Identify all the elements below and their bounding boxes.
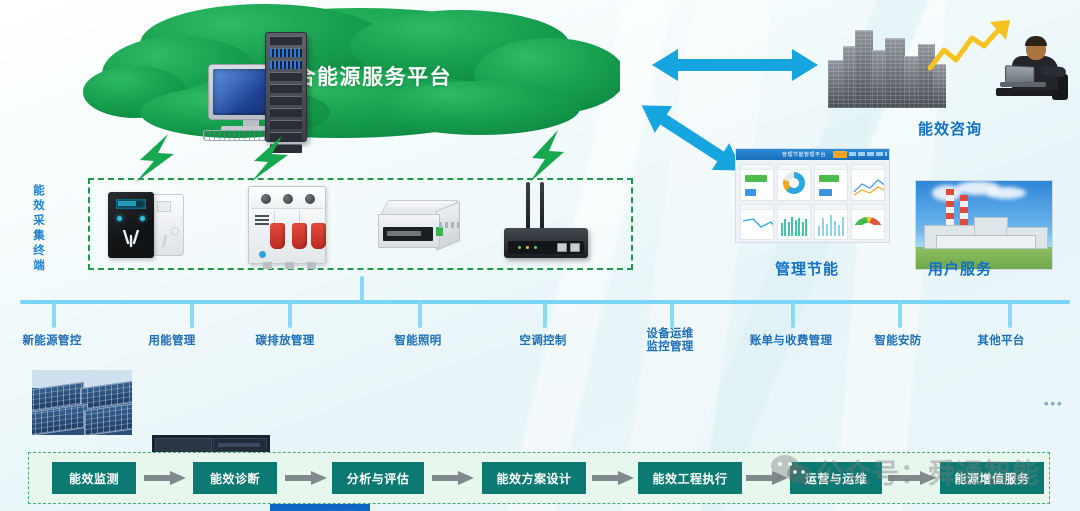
category-label-om-line1: 设备运维	[620, 328, 720, 341]
ellipsis-more-platforms: •••	[1044, 396, 1064, 411]
energy-management-dashboard-screenshot: 管理节能管理平台	[735, 148, 890, 243]
progress-bar-panel	[814, 164, 848, 201]
category-label-security[interactable]: 智能安防	[850, 335, 946, 348]
bus-tick	[543, 302, 547, 328]
bus-tick	[670, 302, 674, 328]
category-label-other[interactable]: 其他平台	[953, 335, 1049, 348]
iot-gateway-router-device	[500, 182, 592, 264]
category-label-new-energy[interactable]: 新能源管控	[2, 335, 102, 348]
circuit-breaker-device	[248, 186, 326, 264]
line-chart-panel	[740, 204, 774, 241]
bus-tick	[190, 302, 194, 328]
dashboard-titlebar: 管理节能管理平台	[736, 149, 889, 160]
category-label-carbon[interactable]: 碳排放管理	[230, 335, 340, 348]
flow-arrow	[592, 471, 634, 485]
bus-tick	[418, 302, 422, 328]
bidirectional-arrow-top	[652, 48, 818, 87]
power-plant-photo	[915, 180, 1053, 270]
flow-step-analysis[interactable]: 分析与评估	[332, 462, 424, 494]
bus-tick	[791, 302, 795, 328]
service-label-consulting: 能效咨询	[918, 118, 982, 139]
bus-tick	[898, 302, 902, 328]
bus-tick-up	[360, 276, 364, 302]
dashboard-title: 管理节能管理平台	[782, 151, 826, 158]
progress-bars-panel	[740, 164, 774, 201]
flow-step-design[interactable]: 能效方案设计	[482, 462, 586, 494]
bus-tick	[52, 302, 56, 328]
server-rack-icon	[265, 32, 307, 142]
flow-arrow	[432, 471, 474, 485]
category-label-hvac[interactable]: 空调控制	[495, 335, 591, 348]
category-label-om[interactable]: 设备运维 监控管理	[620, 328, 720, 354]
acquisition-terminal-label: 能效采集终端	[30, 184, 48, 274]
category-label-billing[interactable]: 账单与收费管理	[724, 335, 858, 348]
lightning-bolt-icon	[134, 134, 180, 182]
city-skyline-consultant-photo	[828, 20, 1068, 108]
consultant-at-laptop-graphic	[996, 36, 1068, 108]
flow-arrow	[888, 471, 936, 485]
category-label-om-line2: 监控管理	[620, 341, 720, 354]
flow-step-value-added[interactable]: 能源增值服务	[940, 462, 1044, 494]
flow-step-monitoring[interactable]: 能效监测	[52, 462, 136, 494]
flow-arrow	[144, 471, 186, 485]
dashboard-panel-grid	[736, 160, 889, 243]
lightning-bolt-icon	[248, 136, 294, 182]
flow-step-execution[interactable]: 能效工程执行	[638, 462, 742, 494]
category-label-lighting[interactable]: 智能照明	[370, 335, 466, 348]
flow-step-diagnosis[interactable]: 能效诊断	[193, 462, 277, 494]
service-label-user-service: 用户服务	[928, 258, 992, 279]
smart-socket-panel-device	[108, 192, 186, 258]
area-chart-panel	[814, 204, 848, 241]
line-chart-panel	[851, 164, 885, 201]
din-rail-energy-meter-device	[378, 200, 460, 252]
bus-tick	[1008, 302, 1012, 328]
flow-step-operations[interactable]: 运营与运维	[790, 462, 882, 494]
flow-arrow	[285, 471, 327, 485]
lightning-bolt-icon	[528, 130, 568, 182]
solar-farm-photo[interactable]	[32, 370, 132, 435]
diagram-canvas: 综合能源服务平台	[0, 0, 1080, 511]
bar-chart-panel	[777, 204, 811, 241]
bus-tick	[288, 302, 292, 328]
category-label-energy-use[interactable]: 用能管理	[124, 335, 220, 348]
flow-arrow	[746, 471, 788, 485]
donut-chart-panel	[777, 164, 811, 201]
gauge-panel	[851, 204, 885, 241]
service-label-management: 管理节能	[775, 258, 839, 279]
